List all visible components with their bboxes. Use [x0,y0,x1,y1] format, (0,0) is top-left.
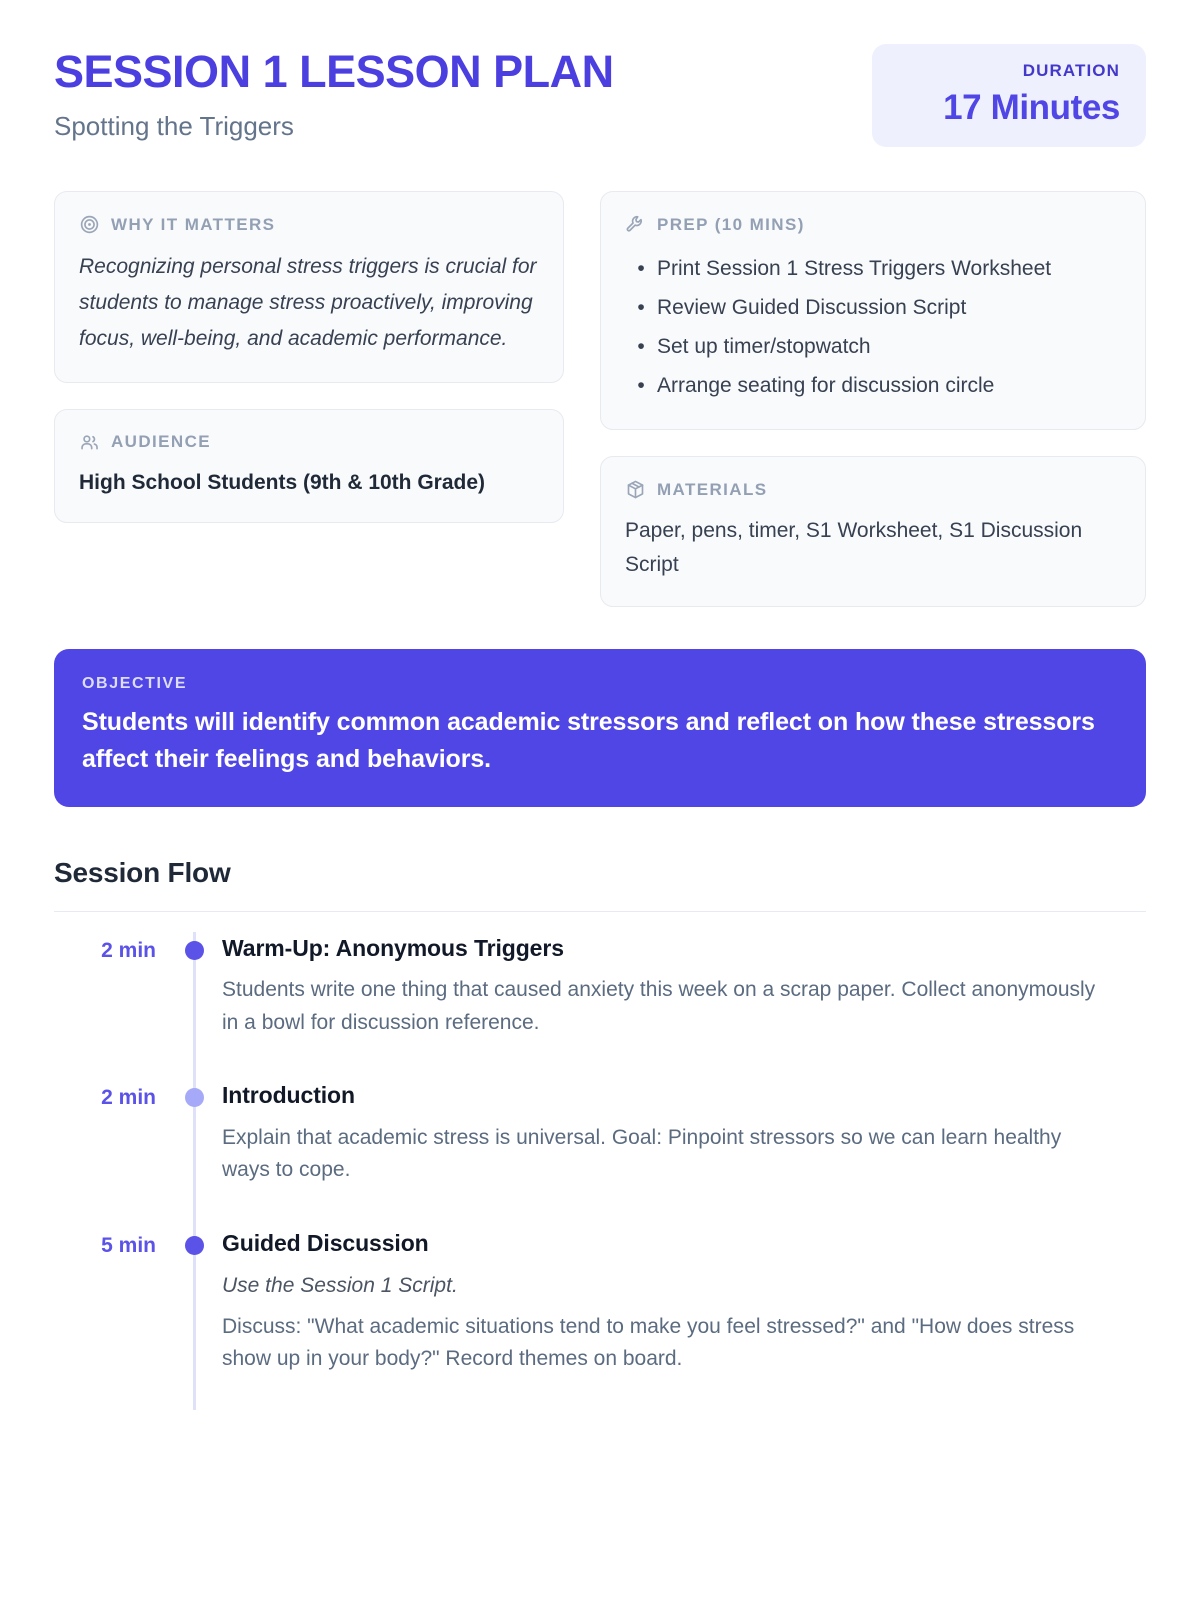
timeline-heading: Introduction [222,1079,1146,1112]
timeline-duration: 2 min [54,926,174,1039]
timeline-heading: Warm-Up: Anonymous Triggers [222,932,1146,965]
timeline-content: Warm-Up: Anonymous Triggers Students wri… [214,926,1146,1039]
target-icon [79,214,100,235]
timeline-dot [185,941,204,960]
info-column-left: WHY IT MATTERS Recognizing personal stre… [54,191,564,523]
session-flow-heading: Session Flow [54,857,1146,889]
timeline-duration: 2 min [54,1073,174,1186]
objective-text: Students will identify common academic s… [82,704,1118,777]
prep-card: PREP (10 MINS) •Print Session 1 Stress T… [600,191,1146,430]
prep-list-item: •Set up timer/stopwatch [625,327,1121,366]
prep-item-text: Review Guided Discussion Script [657,296,966,319]
card-label: MATERIALS [657,480,768,500]
timeline-dot [185,1088,204,1107]
timeline-description: Discuss: "What academic situations tend … [222,1311,1112,1376]
timeline-item: 5 min Guided Discussion Use the Session … [54,1221,1146,1410]
materials-card: MATERIALS Paper, pens, timer, S1 Workshe… [600,456,1146,607]
card-label: PREP (10 MINS) [657,215,805,235]
why-it-matters-card: WHY IT MATTERS Recognizing personal stre… [54,191,564,382]
card-label: AUDIENCE [111,432,211,452]
card-header: AUDIENCE [79,432,539,453]
timeline-item: 2 min Introduction Explain that academic… [54,1073,1146,1220]
header-titles: SESSION 1 LESSON PLAN Spotting the Trigg… [54,44,614,142]
timeline-marker [174,1221,214,1376]
prep-list: •Print Session 1 Stress Triggers Workshe… [625,249,1121,405]
page-subtitle: Spotting the Triggers [54,111,614,142]
prep-item-text: Arrange seating for discussion circle [657,374,994,397]
bullet-glyph: • [625,327,657,366]
duration-badge: DURATION 17 Minutes [872,44,1146,147]
bullet-glyph: • [625,249,657,288]
info-column-right: PREP (10 MINS) •Print Session 1 Stress T… [600,191,1146,607]
timeline-content: Guided Discussion Use the Session 1 Scri… [214,1221,1146,1376]
card-header: MATERIALS [625,479,1121,500]
duration-value: 17 Minutes [898,89,1120,128]
materials-value: Paper, pens, timer, S1 Worksheet, S1 Dis… [625,514,1121,582]
timeline-dot [185,1236,204,1255]
audience-value: High School Students (9th & 10th Grade) [79,467,539,499]
users-icon [79,432,100,453]
prep-list-item: •Print Session 1 Stress Triggers Workshe… [625,249,1121,288]
timeline-description: Explain that academic stress is universa… [222,1122,1112,1187]
why-it-matters-text: Recognizing personal stress triggers is … [79,249,539,357]
audience-card: AUDIENCE High School Students (9th & 10t… [54,409,564,524]
bullet-glyph: • [625,288,657,327]
session-flow-timeline: 2 min Warm-Up: Anonymous Triggers Studen… [54,912,1146,1410]
timeline-marker [174,926,214,1039]
objective-banner: OBJECTIVE Students will identify common … [54,649,1146,807]
timeline-marker [174,1073,214,1186]
page-title: SESSION 1 LESSON PLAN [54,48,614,97]
timeline-duration: 5 min [54,1221,174,1376]
prep-list-item: •Arrange seating for discussion circle [625,366,1121,405]
prep-item-text: Set up timer/stopwatch [657,335,871,358]
card-header: PREP (10 MINS) [625,214,1121,235]
card-header: WHY IT MATTERS [79,214,539,235]
prep-item-text: Print Session 1 Stress Triggers Workshee… [657,257,1051,280]
lesson-plan-page: SESSION 1 LESSON PLAN Spotting the Trigg… [0,0,1200,1600]
timeline-item: 2 min Warm-Up: Anonymous Triggers Studen… [54,926,1146,1073]
timeline-heading: Guided Discussion [222,1227,1146,1260]
info-grid: WHY IT MATTERS Recognizing personal stre… [54,191,1146,607]
timeline-note: Use the Session 1 Script. [222,1270,1146,1302]
package-icon [625,479,646,500]
wrench-icon [625,214,646,235]
duration-label: DURATION [898,62,1120,81]
card-label: WHY IT MATTERS [111,215,275,235]
bullet-glyph: • [625,366,657,405]
page-header: SESSION 1 LESSON PLAN Spotting the Trigg… [54,44,1146,147]
timeline-description: Students write one thing that caused anx… [222,974,1112,1039]
prep-list-item: •Review Guided Discussion Script [625,288,1121,327]
objective-label: OBJECTIVE [82,675,1118,693]
timeline-content: Introduction Explain that academic stres… [214,1073,1146,1186]
